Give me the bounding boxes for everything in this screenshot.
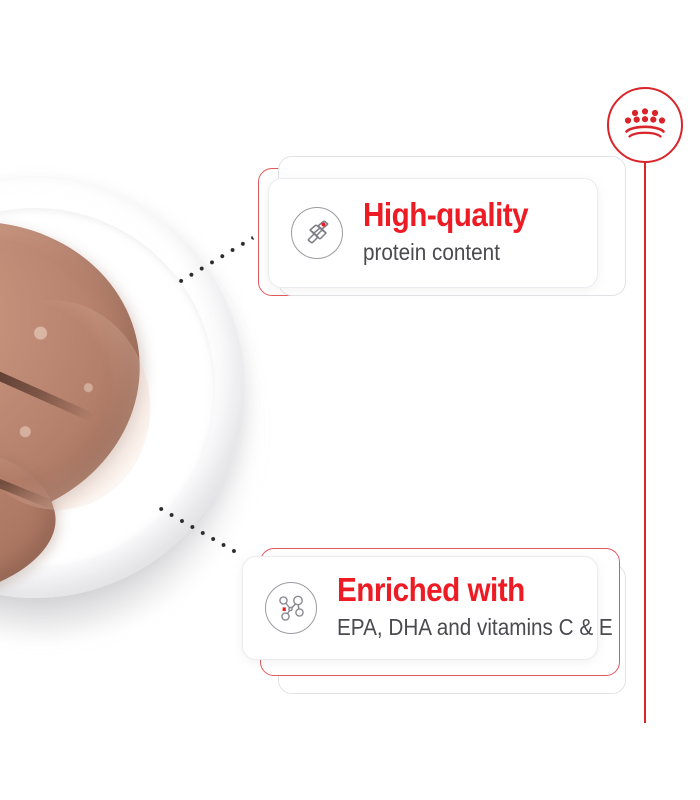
card-front-protein[interactable]: High-quality protein content <box>268 178 598 288</box>
card-front-enriched[interactable]: Enriched with EPA, DHA and vitamins C & … <box>242 556 598 660</box>
feature-card-protein[interactable]: High-quality protein content <box>258 168 628 308</box>
card-text-protein: High-quality protein content <box>363 198 546 268</box>
dna-helix-icon <box>291 207 343 259</box>
card-subtitle-protein: protein content <box>363 238 528 268</box>
card-title-enriched: Enriched with <box>337 573 613 608</box>
card-text-enriched: Enriched with EPA, DHA and vitamins C & … <box>337 573 643 643</box>
card-subtitle-enriched: EPA, DHA and vitamins C & E <box>337 613 613 643</box>
card-title-protein: High-quality <box>363 198 528 233</box>
royal-canin-crown-icon <box>622 106 668 145</box>
feature-card-enriched[interactable]: Enriched with EPA, DHA and vitamins C & … <box>242 538 622 688</box>
royal-canin-badge <box>607 87 683 163</box>
molecule-icon <box>265 582 317 634</box>
brand-stem-line <box>644 163 646 723</box>
product-feature-panel: High-quality protein content <box>0 0 700 800</box>
